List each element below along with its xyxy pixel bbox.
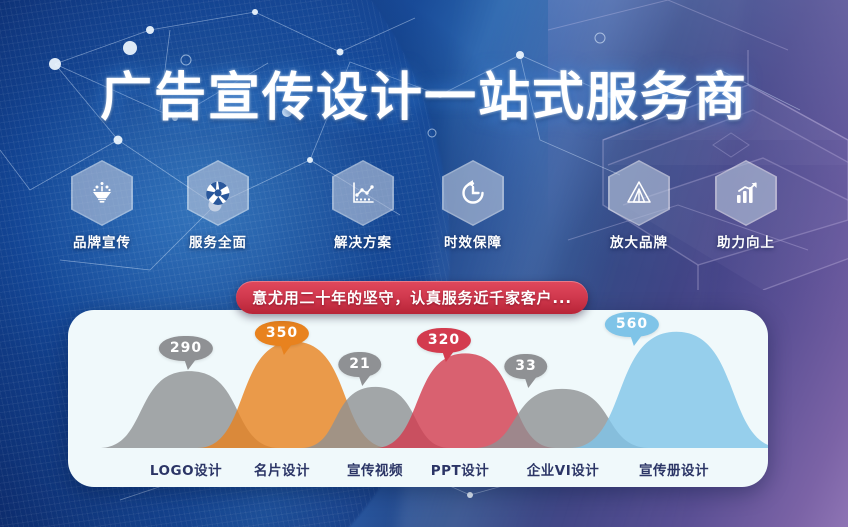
feature-item-brand[interactable]: 品牌宣传	[56, 160, 148, 251]
feature-label: 助力向上	[700, 231, 792, 251]
feature-item-timeliness[interactable]: 时效保障	[427, 160, 519, 251]
value-bubble-2: 21	[338, 352, 381, 377]
feature-icon-row: 品牌宣传	[0, 160, 848, 255]
hex-frame	[332, 160, 394, 226]
axis-label-0: LOGO设计	[150, 459, 222, 479]
chart-card: LOGO设计 名片设计 宣传视频 PPT设计 企业VI设计 宣传册设计 290 …	[68, 310, 768, 487]
hex-frame	[71, 160, 133, 226]
feature-label: 品牌宣传	[56, 231, 148, 251]
bar-growth-icon	[715, 160, 777, 226]
feature-item-amplify[interactable]: 放大品牌	[593, 160, 685, 251]
value-bubble-3: 320	[417, 328, 471, 353]
line-chart-icon	[332, 160, 394, 226]
axis-label-5: 宣传册设计	[639, 459, 709, 479]
page-title: 广告宣传设计一站式服务商	[0, 55, 848, 130]
axis-label-2: 宣传视频	[347, 459, 403, 479]
tagline-text: 意尤用二十年的坚守，认真服务近千家客户...	[252, 287, 572, 308]
tagline-ribbon: 意尤用二十年的坚守，认真服务近千家客户...	[236, 281, 588, 314]
feature-label: 解决方案	[317, 231, 409, 251]
value-bubble-4: 33	[504, 354, 547, 379]
axis-label-4: 企业VI设计	[527, 459, 599, 479]
feature-label: 服务全面	[172, 231, 264, 251]
feature-label: 放大品牌	[593, 231, 685, 251]
chart-axis-labels: LOGO设计 名片设计 宣传视频 PPT设计 企业VI设计 宣传册设计	[68, 450, 768, 487]
feature-item-solution[interactable]: 解决方案	[317, 160, 409, 251]
hex-frame	[715, 160, 777, 226]
axis-label-3: PPT设计	[431, 459, 490, 479]
value-bubble-5: 560	[605, 312, 659, 337]
value-bubble-0: 290	[159, 336, 213, 361]
aperture-icon	[187, 160, 249, 226]
hex-frame	[442, 160, 504, 226]
pyramid-icon	[608, 160, 670, 226]
feature-item-service[interactable]: 服务全面	[172, 160, 264, 251]
feature-item-growth[interactable]: 助力向上	[700, 160, 792, 251]
hex-frame	[608, 160, 670, 226]
value-bubble-1: 350	[255, 321, 309, 346]
hex-frame	[187, 160, 249, 226]
megaphone-icon	[71, 160, 133, 226]
poster-canvas: 广告宣传设计一站式服务商	[0, 0, 848, 527]
feature-label: 时效保障	[427, 231, 519, 251]
clock-history-icon	[442, 160, 504, 226]
axis-label-1: 名片设计	[254, 459, 310, 479]
